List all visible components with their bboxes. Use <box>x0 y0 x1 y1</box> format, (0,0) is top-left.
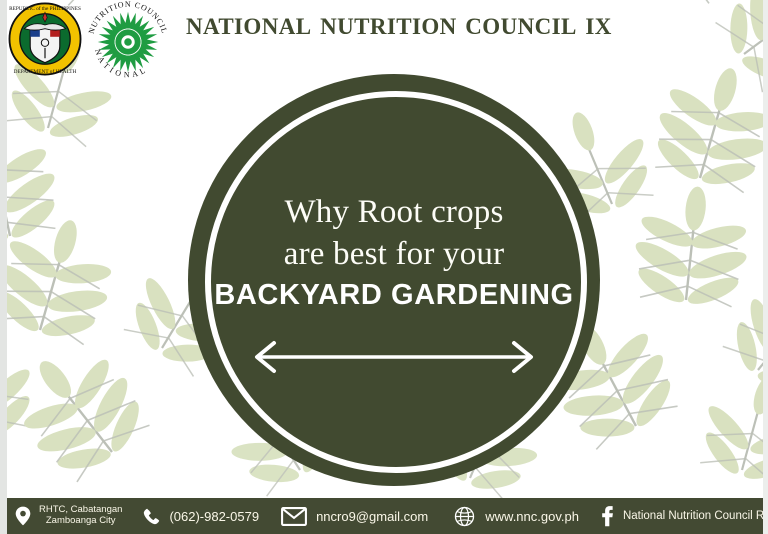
address-line-1: RHTC, Cabatangan <box>39 504 122 515</box>
footer-facebook: National Nutrition Council Region IX <box>601 498 768 534</box>
page-title: National Nutrition Council IX <box>186 6 612 43</box>
email-address: nncro9@gmail.com <box>316 509 428 524</box>
hero-content: Why Root crops are best for your BACKYAR… <box>188 74 600 486</box>
headline-line-1: Why Root crops <box>284 192 503 233</box>
location-pin-icon <box>14 506 32 526</box>
footer-address: RHTC, Cabatangan Zamboanga City <box>14 498 122 534</box>
footer-email: nncro9@gmail.com <box>281 498 428 534</box>
svg-text:REPUBLIC of the PHILIPPINES: REPUBLIC of the PHILIPPINES <box>9 5 81 12</box>
double-arrow-icon <box>244 340 544 374</box>
globe-icon <box>454 506 475 527</box>
header-bar: REPUBLIC of the PHILIPPINES DEPARTMENT o… <box>0 0 768 72</box>
facebook-page-name: National Nutrition Council Region IX <box>623 510 768 522</box>
footer-website: www.nnc.gov.ph <box>454 498 579 534</box>
footer-phone: (062)-982-0579 <box>142 498 259 534</box>
svg-text:DEPARTMENT of HEALTH: DEPARTMENT of HEALTH <box>14 68 77 75</box>
nnc-seal-icon: NUTRITION COUNCIL N A T I O N A L <box>86 0 170 80</box>
facebook-icon <box>601 505 614 527</box>
left-edge-strip <box>0 0 7 534</box>
phone-icon <box>142 507 161 526</box>
footer-bar: RHTC, Cabatangan Zamboanga City (062)-98… <box>0 498 768 534</box>
headline-line-3: BACKYARD GARDENING <box>214 279 573 312</box>
right-edge-strip <box>763 0 768 534</box>
envelope-icon <box>281 507 307 526</box>
headline-line-2: are best for your <box>284 234 505 275</box>
hero-circle: Why Root crops are best for your BACKYAR… <box>188 74 600 486</box>
doh-seal-icon: REPUBLIC of the PHILIPPINES DEPARTMENT o… <box>8 2 82 76</box>
poster-canvas: REPUBLIC of the PHILIPPINES DEPARTMENT o… <box>0 0 768 534</box>
address-text: RHTC, Cabatangan Zamboanga City <box>39 505 122 527</box>
phone-number: (062)-982-0579 <box>169 509 259 524</box>
website-url: www.nnc.gov.ph <box>485 509 579 524</box>
address-line-2: Zamboanga City <box>46 515 116 526</box>
